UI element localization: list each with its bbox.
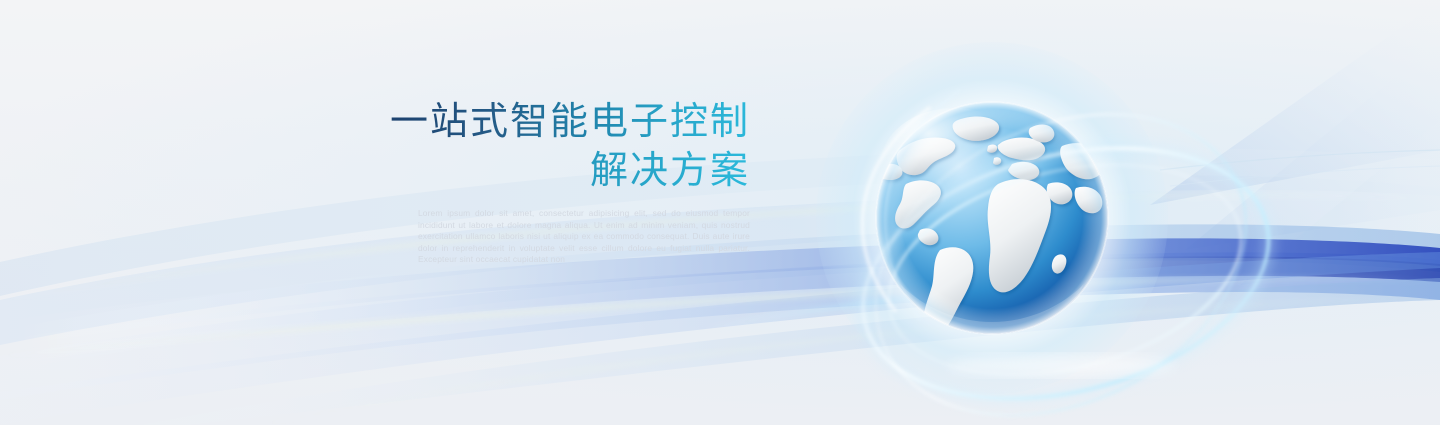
- headline-line-1: 一站式智能电子控制: [300, 98, 750, 147]
- hero-banner: 一站式智能电子控制 解决方案 Lorem ipsum dolor sit ame…: [0, 0, 1440, 425]
- lede-paragraph: Lorem ipsum dolor sit amet, consectetur …: [418, 208, 750, 266]
- hero-copy: 一站式智能电子控制 解决方案 Lorem ipsum dolor sit ame…: [300, 98, 750, 266]
- orbit-spark-bottom: [948, 355, 1174, 377]
- globe-illustration: [862, 88, 1122, 348]
- orbit-arc-left-sweep-2: [885, 90, 960, 319]
- headline-line-2: 解决方案: [300, 147, 750, 196]
- page-title: 一站式智能电子控制 解决方案: [300, 98, 750, 196]
- orbit-light-arcs: [802, 58, 1182, 378]
